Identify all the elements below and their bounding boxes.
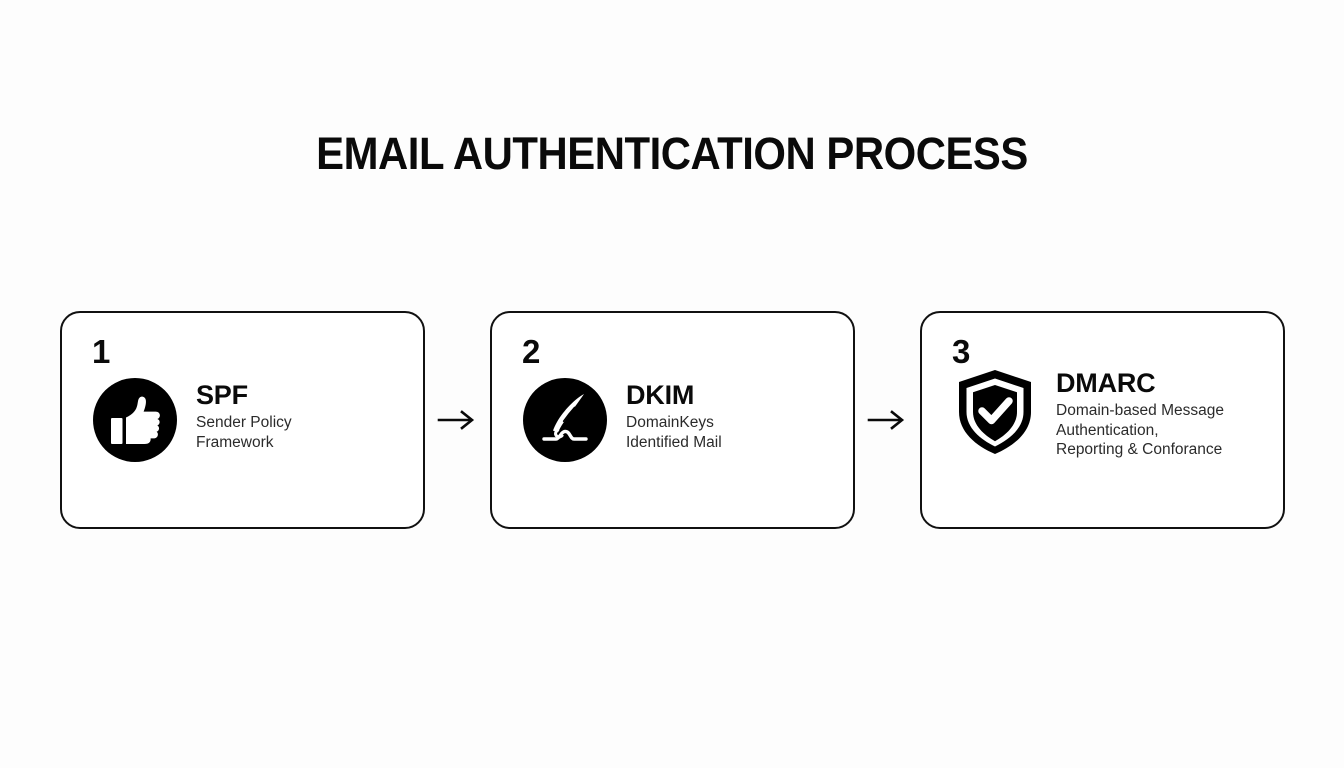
expansion-line: Framework <box>196 433 405 452</box>
step-number: 2 <box>522 335 540 368</box>
step-number: 1 <box>92 335 110 368</box>
expansion-line: Authentication, <box>1056 421 1265 440</box>
expansion-line: Reporting & Conforance <box>1056 440 1265 459</box>
card-body: DKIM DomainKeys Identified Mail <box>522 377 835 463</box>
expansion-line: DomainKeys <box>626 413 835 432</box>
expansion-line: Domain-based Message <box>1056 401 1265 420</box>
shield-check-icon <box>952 369 1038 455</box>
step-expansion: Sender Policy Framework <box>196 413 405 451</box>
step-expansion: Domain-based Message Authentication, Rep… <box>1056 401 1265 459</box>
step-expansion: DomainKeys Identified Mail <box>626 413 835 451</box>
step-number: 3 <box>952 335 970 368</box>
arrow-right-icon <box>855 408 920 432</box>
expansion-line: Identified Mail <box>626 433 835 452</box>
step-acronym: SPF <box>196 381 405 409</box>
expansion-line: Sender Policy <box>196 413 405 432</box>
card-body: SPF Sender Policy Framework <box>92 377 405 463</box>
step-card-dmarc[interactable]: 3 DMARC Domain-based Message Authenticat… <box>920 311 1285 529</box>
thumbs-up-icon <box>92 377 178 463</box>
step-text: DKIM DomainKeys Identified Mail <box>608 377 835 452</box>
step-acronym: DMARC <box>1056 369 1265 397</box>
step-acronym: DKIM <box>626 381 835 409</box>
step-card-spf[interactable]: 1 SPF Sender Policy Framework <box>60 311 425 529</box>
page-title: EMAIL AUTHENTICATION PROCESS <box>47 128 1297 180</box>
process-flow: 1 SPF Sender Policy Framework <box>60 310 1284 530</box>
step-card-dkim[interactable]: 2 DKIM DomainKeys Identified Mail <box>490 311 855 529</box>
card-body: DMARC Domain-based Message Authenticatio… <box>952 369 1265 459</box>
arrow-right-icon <box>425 408 490 432</box>
step-text: SPF Sender Policy Framework <box>178 377 405 452</box>
quill-signature-icon <box>522 377 608 463</box>
step-text: DMARC Domain-based Message Authenticatio… <box>1038 369 1265 459</box>
